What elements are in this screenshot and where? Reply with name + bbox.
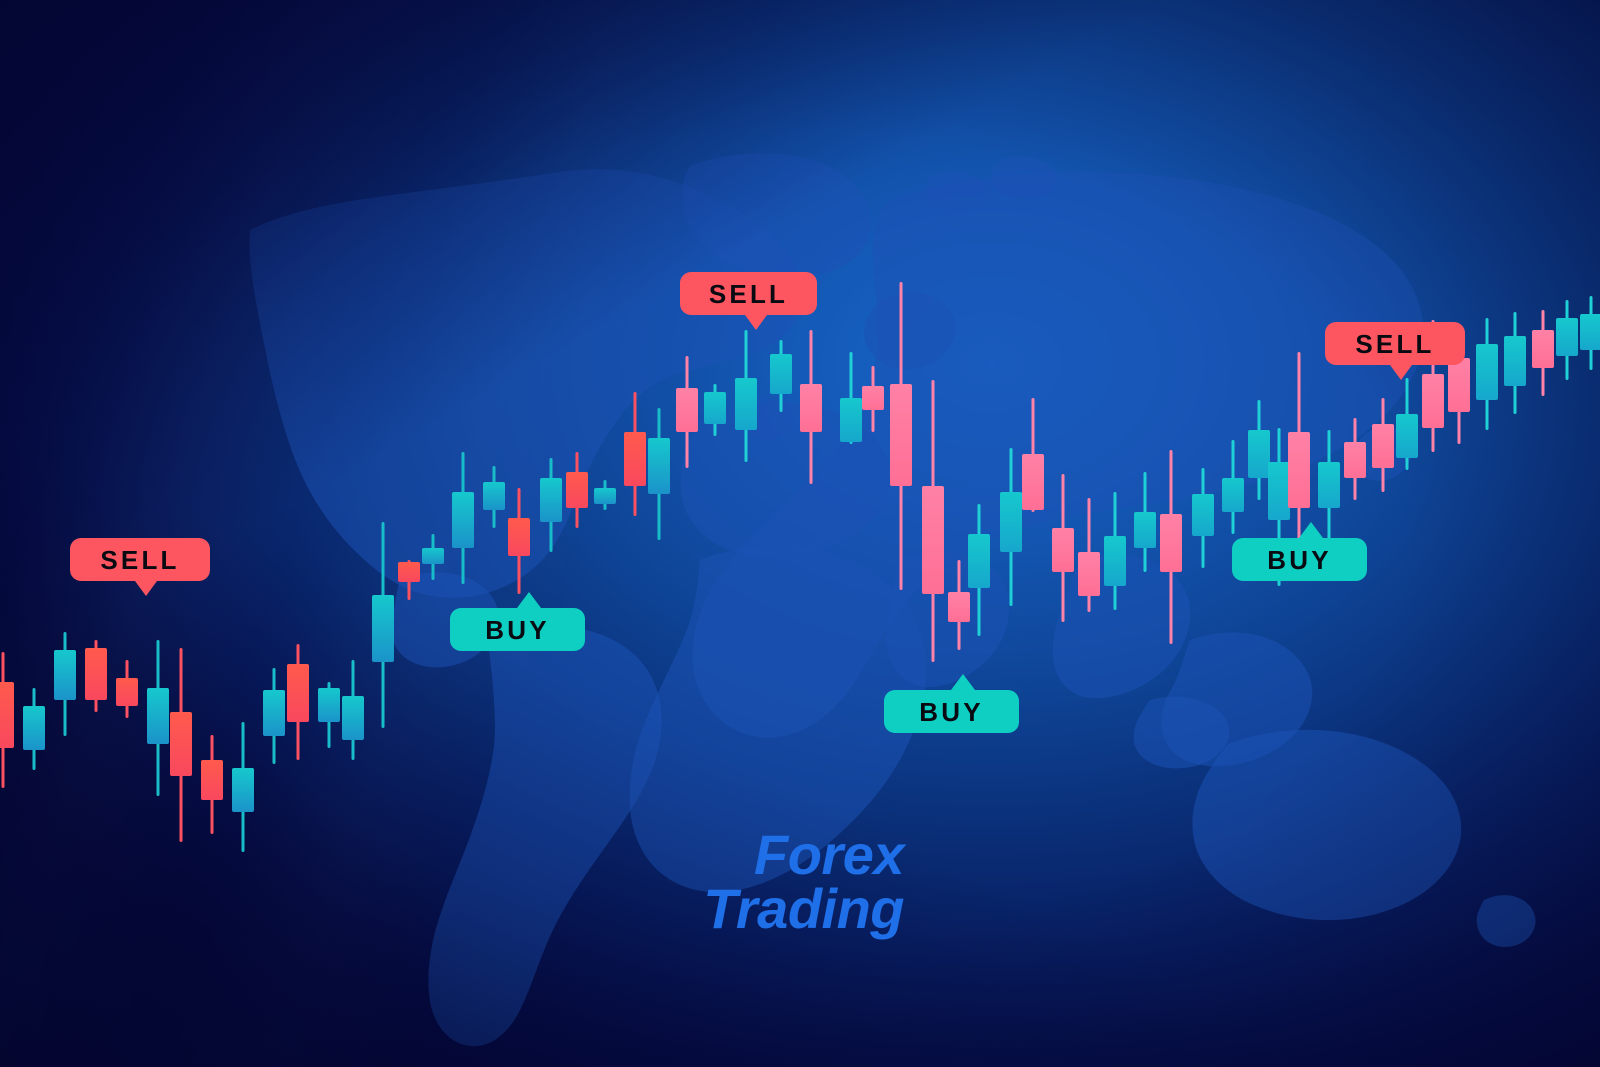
candle-body (452, 492, 474, 548)
candle-body (0, 682, 14, 748)
candlestick-bearish (862, 366, 884, 432)
badge-label: BUY (485, 617, 550, 643)
page-title: Forex Trading (560, 828, 904, 936)
candle-body (594, 488, 616, 504)
badge-label: SELL (709, 281, 788, 307)
candle-body (566, 472, 588, 508)
candle-body (1448, 358, 1470, 412)
badge-label: BUY (919, 699, 984, 725)
candle-body (1022, 454, 1044, 510)
candlestick-bearish (1052, 474, 1074, 622)
candle-body (704, 392, 726, 424)
candlestick-bearish (170, 648, 192, 842)
candle-body (1160, 514, 1182, 572)
badge-pointer-down-icon (1390, 365, 1412, 380)
candlestick-bullish (1476, 318, 1498, 430)
candle-body (287, 664, 309, 722)
candlestick-bearish (800, 330, 822, 484)
candle-body (422, 548, 444, 564)
candlestick-bullish (54, 632, 76, 736)
candlestick-bullish (452, 452, 474, 584)
candle-body (508, 518, 530, 556)
candlestick-bullish (1556, 300, 1578, 380)
badge-buy-center[interactable]: BUY (884, 690, 1019, 733)
candle-body (342, 696, 364, 740)
candle-body (1344, 442, 1366, 478)
candle-body (1396, 414, 1418, 458)
candle-body (85, 648, 107, 700)
candlestick-bearish (1022, 398, 1044, 512)
candlestick-bullish (648, 408, 670, 540)
candle-body (735, 378, 757, 430)
candle-body (263, 690, 285, 736)
badge-label: SELL (1355, 331, 1434, 357)
candlestick-bullish (968, 504, 990, 636)
candle-body (1580, 314, 1600, 350)
badge-pointer-up-icon (951, 674, 975, 690)
candle-body (147, 688, 169, 744)
candlestick-bullish (770, 340, 792, 412)
candle-body (372, 595, 394, 662)
candlestick-bullish (232, 722, 254, 852)
candle-body (1248, 430, 1270, 478)
candle-body (1504, 336, 1526, 386)
candlestick-bearish (1372, 398, 1394, 492)
forex-trading-banner: SELLBUYSELLBUYBUYSELL Forex Trading (0, 0, 1600, 1067)
candlestick-bullish (594, 480, 616, 510)
candle-body (1000, 492, 1022, 552)
candlestick-bearish (508, 488, 530, 594)
candle-body (1134, 512, 1156, 548)
badge-label: BUY (1267, 547, 1332, 573)
candlestick-bullish (1504, 312, 1526, 414)
badge-pointer-down-icon (135, 581, 157, 596)
candlestick-bullish (704, 384, 726, 436)
candle-body (948, 592, 970, 622)
candle-body (1222, 478, 1244, 512)
candle-body (540, 478, 562, 522)
candle-body (318, 688, 340, 722)
candlestick-bearish (676, 356, 698, 468)
candlestick-bullish (342, 660, 364, 760)
candle-body (483, 482, 505, 510)
candle-body (1192, 494, 1214, 536)
candlestick-bullish (1248, 400, 1270, 500)
candlestick-bearish (624, 392, 646, 516)
candle-body (170, 712, 192, 776)
candle-body (54, 650, 76, 700)
candle-body (1422, 374, 1444, 428)
candlestick-bullish (1000, 448, 1022, 606)
candlestick-bullish (318, 682, 340, 748)
candle-body (116, 678, 138, 706)
candle-body (1288, 432, 1310, 508)
candlestick-bullish (735, 330, 757, 462)
candle-body (1476, 344, 1498, 400)
candle-body (624, 432, 646, 486)
candlestick-bearish (1078, 498, 1100, 612)
candle-body (1052, 528, 1074, 572)
badge-label: SELL (100, 547, 179, 573)
candle-body (1372, 424, 1394, 468)
candlestick-bearish (1160, 450, 1182, 644)
candlestick-bullish (1222, 440, 1244, 534)
candlestick-bearish (398, 560, 420, 600)
candlestick-bearish (116, 660, 138, 718)
badge-pointer-up-icon (1299, 522, 1323, 538)
candle-body (840, 398, 862, 442)
candle-body (23, 706, 45, 750)
candlestick-bullish (1134, 472, 1156, 572)
candlestick-bearish (566, 452, 588, 528)
candle-body (676, 388, 698, 432)
candlestick-bullish (540, 458, 562, 552)
candle-body (1318, 462, 1340, 508)
badge-buy-right[interactable]: BUY (1232, 538, 1367, 581)
candle-body (1268, 462, 1290, 520)
candlestick-bullish (1580, 296, 1600, 370)
candle-body (968, 534, 990, 588)
candlestick-bearish (0, 652, 14, 788)
candle-body (800, 384, 822, 432)
candlestick-bullish (1104, 492, 1126, 610)
candle-body (201, 760, 223, 800)
candle-body (648, 438, 670, 494)
candle-body (1532, 330, 1554, 368)
candlestick-bearish (85, 640, 107, 712)
badge-buy-left[interactable]: BUY (450, 608, 585, 651)
candlestick-bullish (263, 668, 285, 764)
candle-body (862, 386, 884, 410)
candlestick-bullish (422, 534, 444, 580)
candlestick-bullish (1396, 378, 1418, 470)
candle-body (770, 354, 792, 394)
candle-body (398, 562, 420, 582)
candlestick-bearish (287, 644, 309, 760)
candlestick-bullish (1192, 468, 1214, 568)
candle-body (1556, 318, 1578, 356)
candlestick-bullish (147, 640, 169, 796)
candle-body (232, 768, 254, 812)
candlestick-bearish (1532, 310, 1554, 396)
candlestick-bearish (1344, 418, 1366, 500)
badge-pointer-down-icon (745, 315, 767, 330)
badge-sell-center[interactable]: SELL (680, 272, 817, 315)
candlestick-bullish (483, 466, 505, 528)
candlestick-bullish (372, 522, 394, 728)
candlestick-bearish (948, 560, 970, 650)
candle-body (1104, 536, 1126, 586)
badge-pointer-up-icon (517, 592, 541, 608)
candlestick-bullish (840, 352, 862, 444)
candle-body (922, 486, 944, 594)
candlestick-bearish (890, 282, 912, 590)
candlestick-bearish (922, 380, 944, 662)
candlestick-bearish (201, 735, 223, 834)
badge-sell-left[interactable]: SELL (70, 538, 210, 581)
candle-body (890, 384, 912, 486)
candlestick-bullish (23, 688, 45, 770)
candle-body (1078, 552, 1100, 596)
badge-sell-right[interactable]: SELL (1325, 322, 1465, 365)
